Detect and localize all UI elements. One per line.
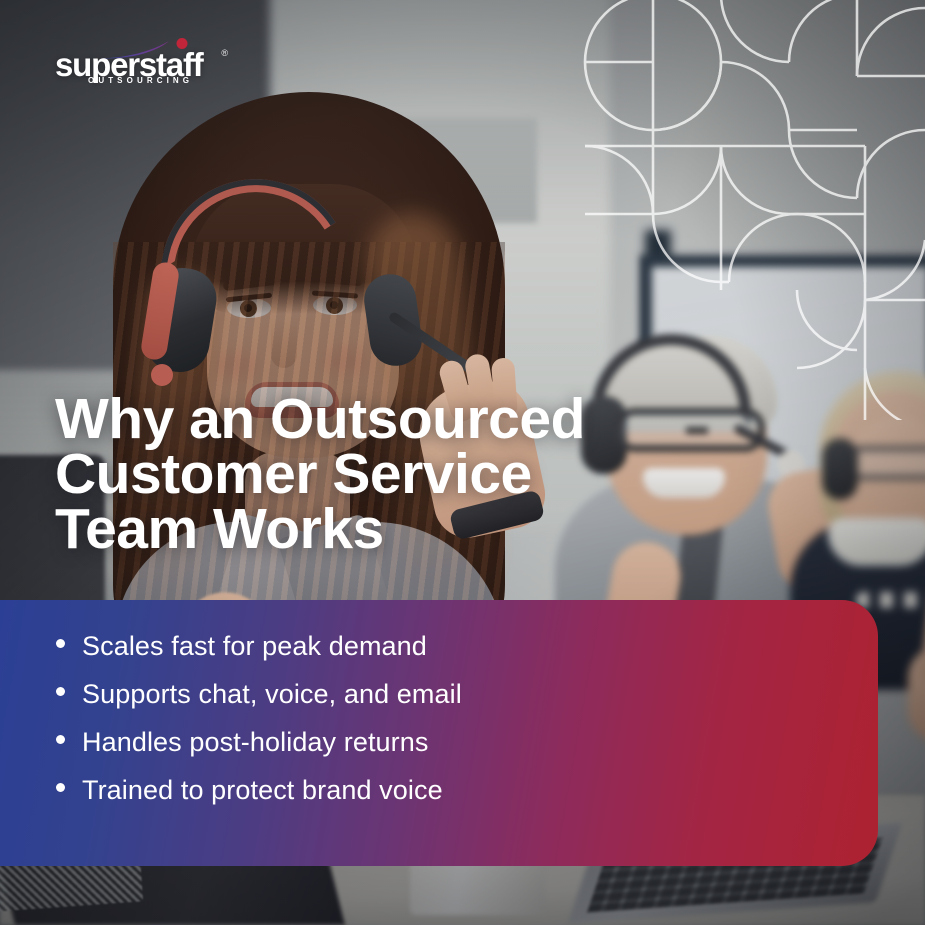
list-item: Handles post-holiday returns <box>56 718 836 766</box>
logo-tagline: OUTSOURCING <box>88 77 193 85</box>
headline-line-2: Customer Service <box>55 447 675 502</box>
page-title: Why an Outsourced Customer Service Team … <box>55 392 675 557</box>
bullet-dot-icon <box>56 639 65 648</box>
list-item: Scales fast for peak demand <box>56 622 836 670</box>
bullet-dot-icon <box>56 687 65 696</box>
bullet-dot-icon <box>56 783 65 792</box>
benefits-list: Scales fast for peak demand Supports cha… <box>56 622 836 814</box>
geometric-line-pattern-icon <box>575 0 925 420</box>
list-item: Supports chat, voice, and email <box>56 670 836 718</box>
list-item: Trained to protect brand voice <box>56 766 836 814</box>
bullet-dot-icon <box>56 735 65 744</box>
logo-registered-mark: ® <box>221 48 228 58</box>
headline-line-3: Team Works <box>55 502 675 557</box>
superstaff-logo[interactable]: superstaff ® OUTSOURCING <box>55 38 225 86</box>
headline-line-1: Why an Outsourced <box>55 392 675 447</box>
list-item-label: Supports chat, voice, and email <box>82 670 462 718</box>
list-item-label: Trained to protect brand voice <box>82 766 443 814</box>
list-item-label: Scales fast for peak demand <box>82 622 427 670</box>
benefits-panel: Scales fast for peak demand Supports cha… <box>0 600 878 866</box>
social-graphic-canvas: superstaff ® OUTSOURCING Why an Outsourc… <box>0 0 925 925</box>
list-item-label: Handles post-holiday returns <box>82 718 428 766</box>
